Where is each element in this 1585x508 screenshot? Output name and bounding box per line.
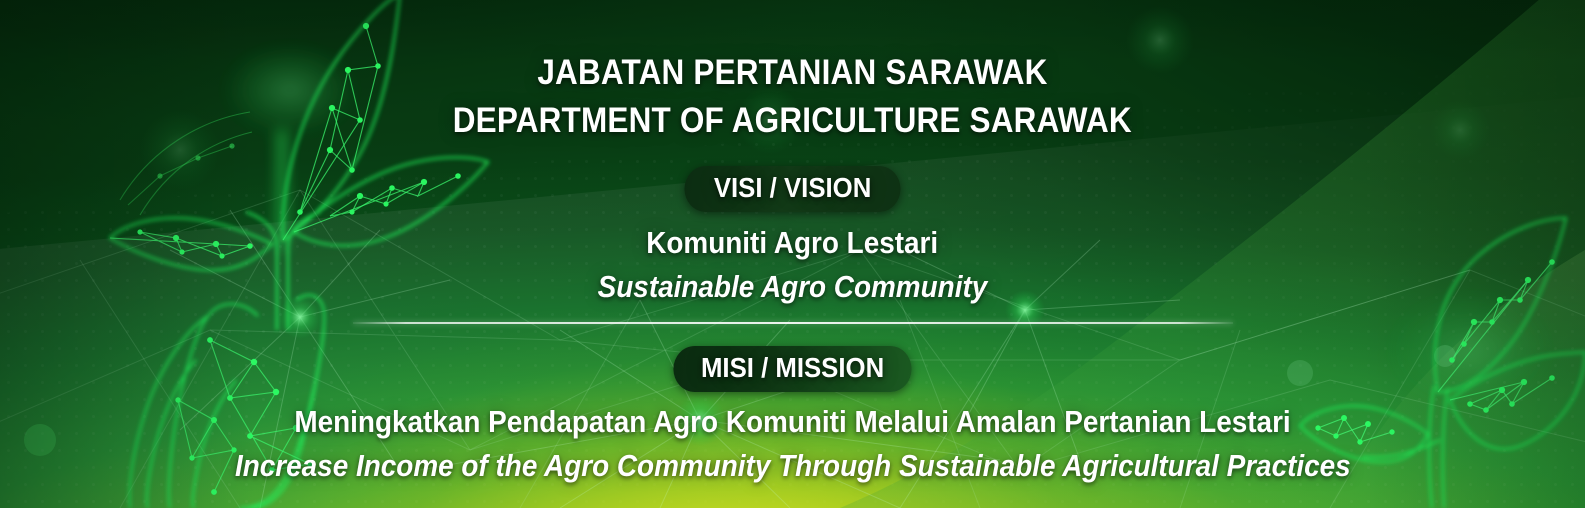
mission-statement-english: Increase Income of the Agro Community Th… <box>235 448 1351 484</box>
vision-statement-malay: Komuniti Agro Lestari <box>647 225 939 261</box>
banner: JABATAN PERTANIAN SARAWAK DEPARTMENT OF … <box>0 0 1585 508</box>
banner-content: JABATAN PERTANIAN SARAWAK DEPARTMENT OF … <box>0 0 1585 508</box>
section-divider <box>353 322 1233 324</box>
organisation-title-english: DEPARTMENT OF AGRICULTURE SARAWAK <box>453 102 1132 140</box>
organisation-title-malay: JABATAN PERTANIAN SARAWAK <box>537 54 1047 92</box>
vision-badge: VISI / VISION <box>684 166 900 212</box>
vision-statement-english: Sustainable Agro Community <box>598 269 988 305</box>
mission-badge: MISI / MISSION <box>673 346 911 392</box>
mission-statement-malay: Meningkatkan Pendapatan Agro Komuniti Me… <box>294 404 1290 440</box>
